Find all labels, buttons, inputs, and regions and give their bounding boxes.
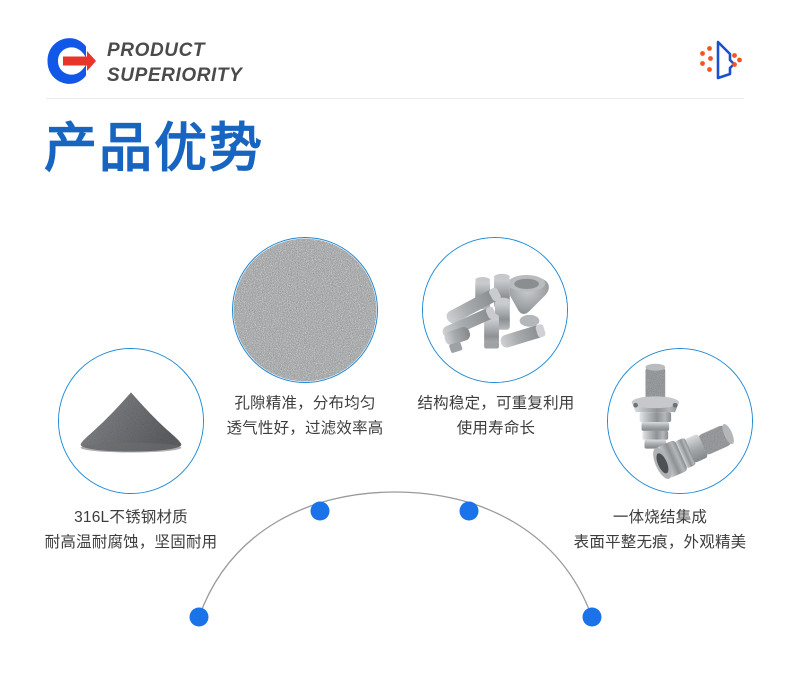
caption-line-1: 316L不锈钢材质 [10,505,252,530]
arc-dot [460,502,479,521]
header-title: PRODUCT SUPERIORITY [107,38,242,88]
bracket-dots-icon [694,38,742,82]
caption-line-2: 耐高温耐腐蚀，坚固耐用 [10,530,252,555]
caption-line-1: 结构稳定，可重复利用 [385,391,607,416]
sintered-filter-elements-image [422,237,568,383]
header-title-line1: PRODUCT [107,38,242,63]
header-title-line2: SUPERIORITY [107,63,242,88]
company-c-arrow-logo-icon [45,36,97,86]
feature-caption-structure: 结构稳定，可重复利用 使用寿命长 [385,391,607,441]
caption-line-2: 表面平整无痕，外观精美 [540,530,780,555]
flanged-filter-assembly-image [607,348,753,494]
arc-dot [311,502,330,521]
feature-caption-material: 316L不锈钢材质 耐高温耐腐蚀，坚固耐用 [10,505,252,555]
header-divider [46,98,744,99]
metal-powder-cone-image [58,348,204,494]
page-header: PRODUCT SUPERIORITY [0,0,790,100]
product-superiority-page: PRODUCT SUPERIORITY 产品优势 [0,0,790,682]
sintered-porous-disc-image [232,237,378,383]
caption-line-1: 一体烧结集成 [540,505,780,530]
arc-dot [583,608,602,627]
arc-dot [190,608,209,627]
page-title: 产品优势 [44,118,264,180]
feature-caption-integration: 一体烧结集成 表面平整无痕，外观精美 [540,505,780,555]
caption-line-2: 使用寿命长 [385,416,607,441]
